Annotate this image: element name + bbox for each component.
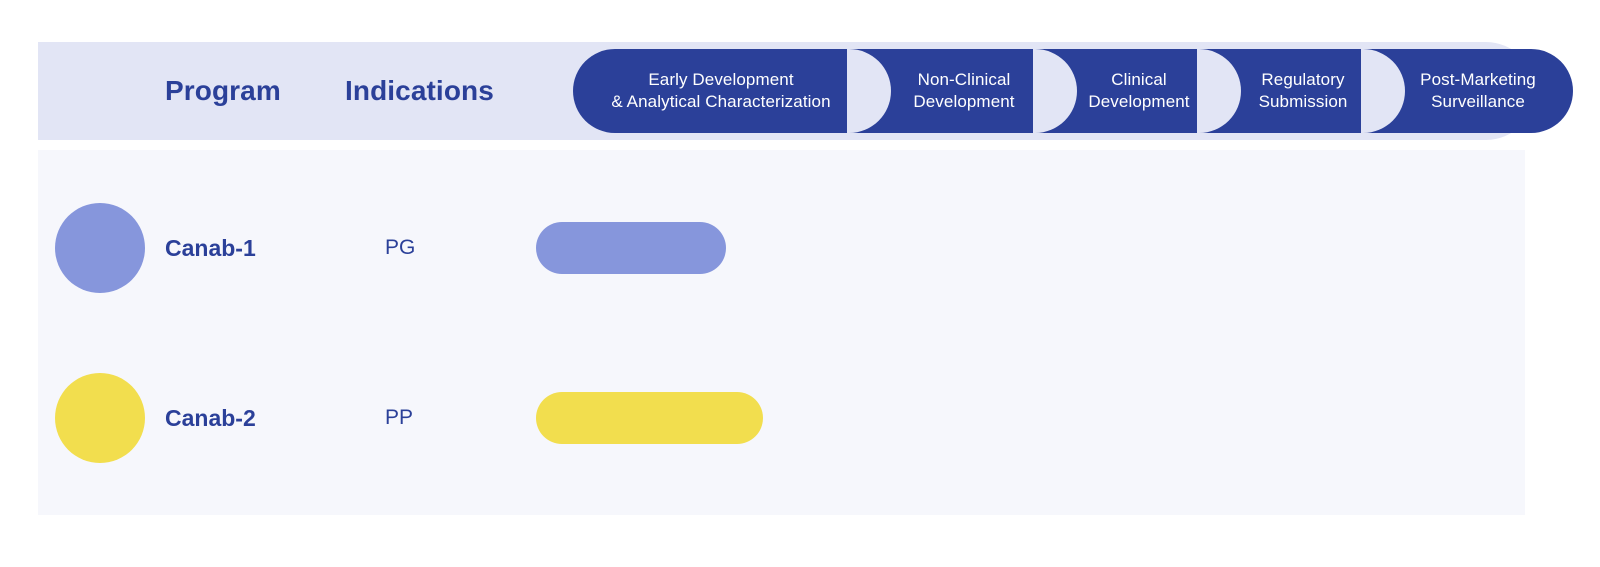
stage-label-line-1: Regulatory — [1259, 69, 1348, 91]
stage-pill-label: Early Development& Analytical Characteri… — [605, 69, 836, 113]
stage-pill-label: Non-ClinicalDevelopment — [907, 69, 1020, 113]
stage-pill-1[interactable]: Early Development& Analytical Characteri… — [573, 49, 869, 133]
program-color-dot — [55, 203, 145, 293]
pipeline-body: Canab-1PGCanab-2PP — [38, 150, 1525, 515]
stage-track: Early Development& Analytical Characteri… — [535, 49, 1535, 133]
stage-pill-label: RegulatorySubmission — [1253, 69, 1354, 113]
program-row[interactable]: Canab-2PP — [38, 358, 1525, 478]
stage-pill-label: ClinicalDevelopment — [1082, 69, 1195, 113]
stage-label-line-1: Post-Marketing — [1420, 69, 1536, 91]
column-header-indications: Indications — [345, 42, 494, 140]
program-indication: PP — [385, 358, 413, 478]
progress-bar[interactable] — [536, 222, 726, 274]
program-name: Canab-2 — [165, 358, 256, 478]
stage-label-line-1: Non-Clinical — [913, 69, 1014, 91]
pipeline-card: Program Indications Early Development& A… — [38, 42, 1535, 515]
stage-label-line-1: Early Development — [611, 69, 830, 91]
program-name: Canab-1 — [165, 188, 256, 308]
program-color-dot — [55, 373, 145, 463]
stage-label-line-2: Surveillance — [1420, 91, 1536, 113]
progress-bar[interactable] — [536, 392, 763, 444]
stage-pill-5[interactable]: Post-MarketingSurveillance — [1383, 49, 1573, 133]
stage-label-line-2: Development — [1088, 91, 1189, 113]
program-row[interactable]: Canab-1PG — [38, 188, 1525, 308]
stage-label-line-1: Clinical — [1088, 69, 1189, 91]
stage-label-line-2: & Analytical Characterization — [611, 91, 830, 113]
pipeline-header-band: Program Indications Early Development& A… — [38, 42, 1535, 140]
program-indication: PG — [385, 188, 415, 308]
stage-pill-label: Post-MarketingSurveillance — [1414, 69, 1542, 113]
stage-pill-2[interactable]: Non-ClinicalDevelopment — [869, 49, 1059, 133]
stage-label-line-2: Submission — [1259, 91, 1348, 113]
stage-label-line-2: Development — [913, 91, 1014, 113]
column-header-program: Program — [165, 42, 281, 140]
